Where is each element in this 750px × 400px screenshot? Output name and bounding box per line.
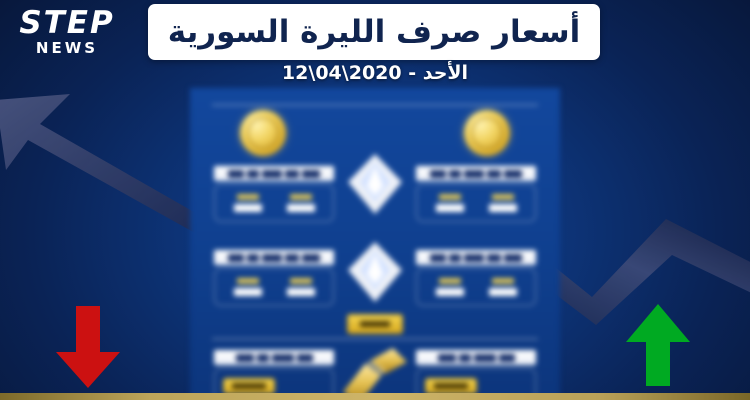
- value-cell: [436, 194, 464, 212]
- value-cell: [234, 278, 262, 296]
- currency-values-row2-left: [214, 268, 334, 306]
- value-cell: [436, 278, 464, 296]
- green-up-arrow-icon: [622, 304, 694, 386]
- diamond-emblem-icon-row2: [346, 234, 404, 306]
- currency-card-row2-left[interactable]: [214, 250, 334, 306]
- gold-bars-icon: [337, 346, 413, 400]
- currency-card-row1-right[interactable]: [416, 166, 536, 222]
- red-down-arrow-icon: [52, 306, 124, 388]
- up-left-arrow-decoration: [0, 78, 222, 248]
- value-cell: [287, 194, 315, 212]
- exchange-rates-panel: [190, 88, 560, 400]
- panel-divider-top: [212, 104, 538, 106]
- gold-label-right: [416, 350, 536, 365]
- currency-card-row2-right[interactable]: [416, 250, 536, 306]
- bottom-gold-strip: [0, 393, 750, 400]
- gold-coin-icon-right: [464, 110, 510, 156]
- gold-coin-icon-left: [240, 110, 286, 156]
- news-graphic-canvas: STEP NEWS: [0, 0, 750, 400]
- currency-label-row1-right: [416, 166, 536, 181]
- zigzag-trend-decoration: [530, 175, 750, 325]
- currency-label-row2-right: [416, 250, 536, 265]
- page-title: أسعار صرف الليرة السورية: [168, 14, 580, 50]
- currency-values-row2-right: [416, 268, 536, 306]
- currency-card-row1-left[interactable]: [214, 166, 334, 222]
- logo-step-text: STEP: [19, 8, 114, 39]
- gold-label-left: [214, 350, 334, 365]
- title-banner: أسعار صرف الليرة السورية: [148, 4, 600, 60]
- panel-divider-gold: [212, 338, 538, 340]
- gold-value-badge-left: [223, 378, 275, 394]
- currency-label-row2-left: [214, 250, 334, 265]
- value-cell: [287, 278, 315, 296]
- gold-section-badge: [347, 314, 403, 334]
- logo-news-text: NEWS: [36, 41, 98, 56]
- gold-value-badge-right: [425, 378, 477, 394]
- date-line: الأحد - 2020\04\12: [0, 62, 750, 84]
- value-cell: [489, 194, 517, 212]
- currency-values-row1-left: [214, 184, 334, 222]
- diamond-emblem-icon-row1: [346, 146, 404, 218]
- step-news-logo[interactable]: STEP NEWS: [8, 6, 126, 58]
- currency-values-row1-right: [416, 184, 536, 222]
- currency-label-row1-left: [214, 166, 334, 181]
- value-cell: [489, 278, 517, 296]
- value-cell: [234, 194, 262, 212]
